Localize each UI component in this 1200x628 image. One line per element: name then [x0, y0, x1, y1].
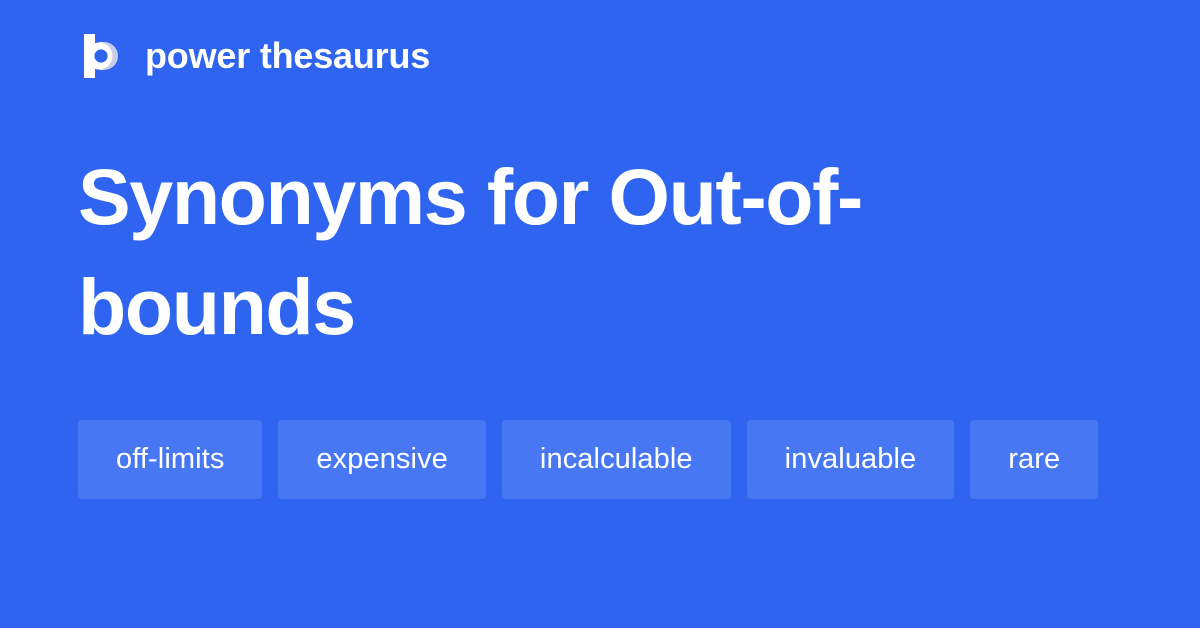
synonym-chip[interactable]: incalculable [502, 420, 731, 499]
synonym-chip-list: off-limits expensive incalculable invalu… [78, 420, 1138, 499]
synonym-chip[interactable]: rare [970, 420, 1098, 499]
brand-name: power thesaurus [145, 34, 430, 78]
synonym-chip[interactable]: invaluable [747, 420, 955, 499]
synonym-chip[interactable]: expensive [278, 420, 486, 499]
power-thesaurus-b-logo-icon [78, 32, 126, 80]
synonyms-share-card: power thesaurus Synonyms for Out-of-boun… [0, 0, 1200, 628]
page-title: Synonyms for Out-of-bounds [78, 142, 1078, 362]
brand-header[interactable]: power thesaurus [78, 28, 430, 84]
synonym-chip[interactable]: off-limits [78, 420, 262, 499]
